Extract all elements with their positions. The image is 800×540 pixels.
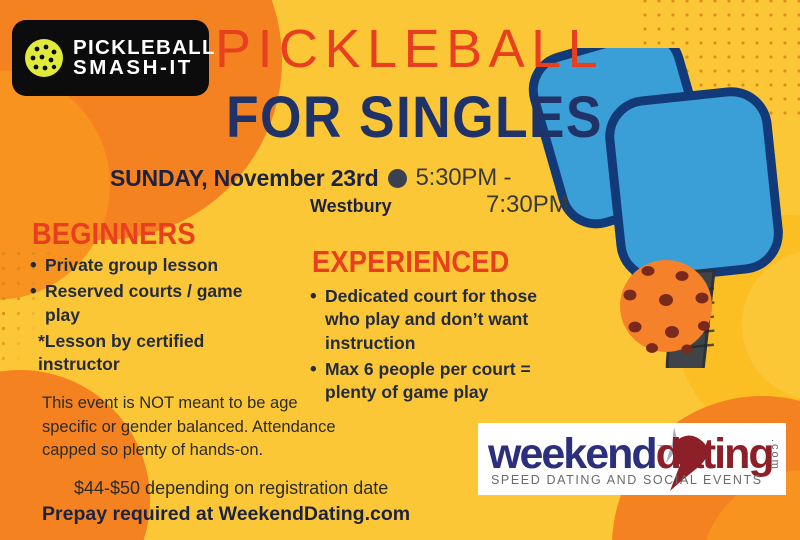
event-date: SUNDAY, November 23rd: [110, 165, 379, 192]
dot-separator-icon: [388, 169, 407, 188]
pickleball-icon: [24, 38, 64, 78]
sponsor-dotcom: .com: [769, 439, 781, 471]
list-item: Dedicated court for those who play and d…: [310, 285, 566, 355]
brand-logo-line2: SMASH-IT: [73, 58, 216, 79]
column-heading-experienced: EXPERIENCED: [312, 244, 510, 280]
list-item: Private group lesson: [30, 254, 278, 277]
event-venue: Westbury: [310, 196, 392, 217]
beginners-list: Private group lesson Reserved courts / g…: [30, 254, 278, 379]
event-note: This event is NOT meant to be age specif…: [42, 392, 342, 463]
brand-logo-badge[interactable]: PICKLEBALL SMASH-IT: [12, 20, 209, 96]
brand-logo-wordmark: PICKLEBALL SMASH-IT: [73, 38, 216, 79]
list-item: Reserved courts / game play: [30, 280, 278, 327]
event-datetime: SUNDAY, November 23rd 5:30PM -: [110, 164, 511, 192]
brand-logo-line1: PICKLEBALL: [73, 38, 216, 59]
event-time-end: 7:30PM: [486, 191, 569, 219]
sponsor-logo-weekenddating[interactable]: weekenddating .com SPEED DATING AND SOCI…: [478, 423, 786, 495]
list-item: Max 6 people per court = plenty of game …: [310, 358, 566, 405]
sponsor-word-weekend: weekend: [488, 430, 656, 478]
sponsor-tagline: SPEED DATING AND SOCIAL EVENTS: [491, 473, 763, 487]
experienced-list: Dedicated court for those who play and d…: [310, 285, 566, 407]
list-item: *Lesson by certified instructor: [30, 330, 278, 377]
column-heading-beginners: BEGINNERS: [32, 216, 196, 252]
event-time-start: 5:30PM -: [416, 164, 512, 192]
prepay-line: Prepay required at WeekendDating.com: [42, 503, 410, 526]
page-title-line1: PICKLEBALL: [215, 18, 604, 80]
sponsor-wordmark: weekenddating: [488, 433, 773, 476]
price-line: $44-$50 depending on registration date: [74, 478, 388, 499]
flyer-canvas: PICKLEBALL SMASH-IT PICKLEBALL FOR SINGL…: [0, 0, 800, 540]
page-title-line2: FOR SINGLES: [226, 84, 603, 151]
sponsor-word-dating: dating: [656, 430, 773, 478]
